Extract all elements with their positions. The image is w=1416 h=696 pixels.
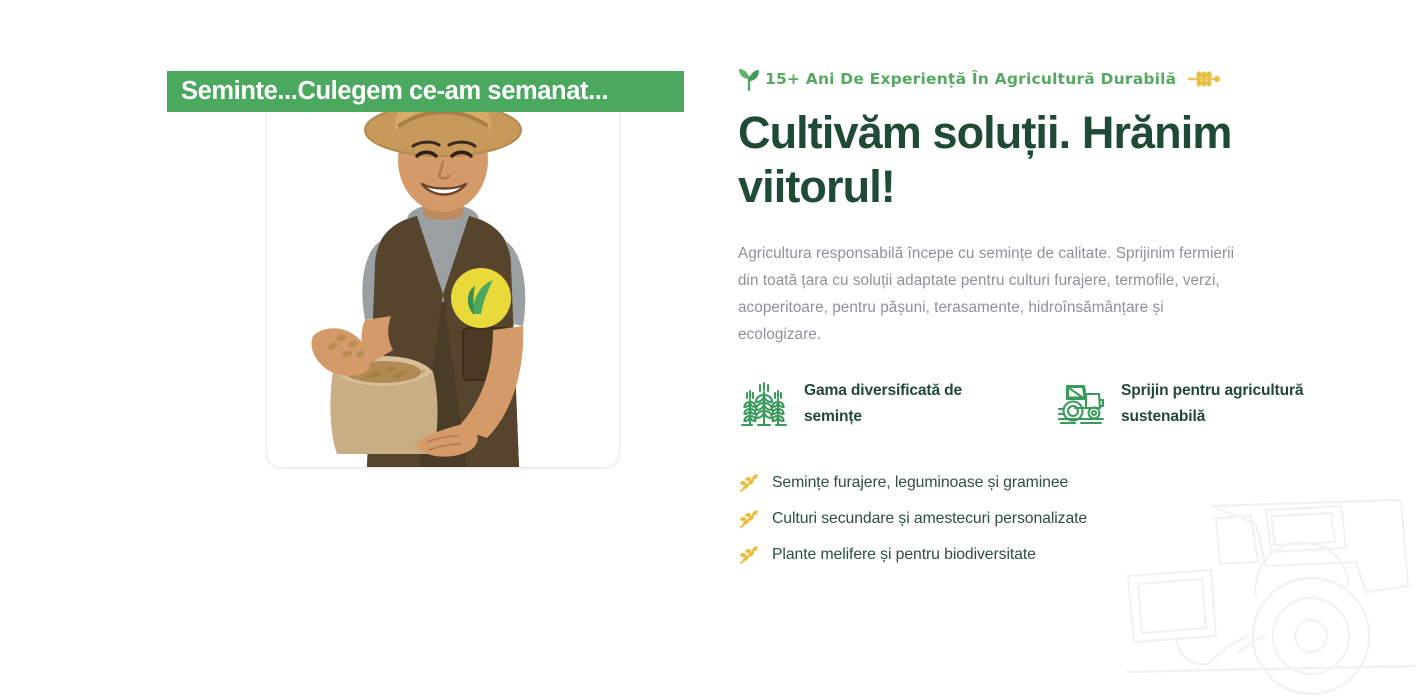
wheat-sprig-icon [738,509,760,529]
benefit-list: Semințe furajere, leguminoase și gramine… [738,465,1416,573]
feature-item-label: Gama diversificată de semințe [804,378,1016,430]
promo-ribbon: Seminte...Culegem ce-am semanat... [167,71,684,112]
hero-media-column: Seminte...Culegem ce-am semanat... [0,0,735,696]
list-item: Plante melifere și pentru biodiversitate [738,537,1416,573]
list-item-label: Culturi secundare și amestecuri personal… [772,510,1087,528]
hero-section: Seminte...Culegem ce-am semanat... [0,0,1416,696]
feature-item-label: Sprijin pentru agricultură sustenabilă [1121,378,1333,430]
farmer-photo-card [267,82,619,467]
wheat-sprig-icon [738,545,760,565]
eyebrow: 15+ Ani De Experiență În Agricultură Dur… [738,66,1416,92]
list-item: Semințe furajere, leguminoase și gramine… [738,465,1416,501]
list-item-label: Plante melifere și pentru biodiversitate [772,546,1036,564]
wheat-ear-icon [1187,71,1221,87]
list-item: Culturi secundare și amestecuri personal… [738,501,1416,537]
eyebrow-label: 15+ Ani De Experiență În Agricultură Dur… [765,70,1176,88]
feature-list: Gama diversificată de semințe [738,378,1416,430]
promo-ribbon-text: Seminte...Culegem ce-am semanat... [181,79,608,105]
tractor-icon [1055,378,1107,430]
list-item-label: Semințe furajere, leguminoase și gramine… [772,474,1068,492]
hero-copy-column: 15+ Ani De Experiență În Agricultură Dur… [735,0,1416,573]
feature-item-seed-range: Gama diversificată de semințe [738,378,1016,430]
farmer-photo [267,82,619,467]
wheat-sprig-icon [738,473,760,493]
sprout-icon [738,67,760,91]
feature-item-sustainable-support: Sprijin pentru agricultură sustenabilă [1055,378,1333,430]
page-title: Cultivăm soluții. Hrănim viitorul! [738,106,1278,214]
hero-description: Agricultura responsabilă începe cu semin… [738,240,1238,348]
wheat-stalks-icon [738,378,790,430]
